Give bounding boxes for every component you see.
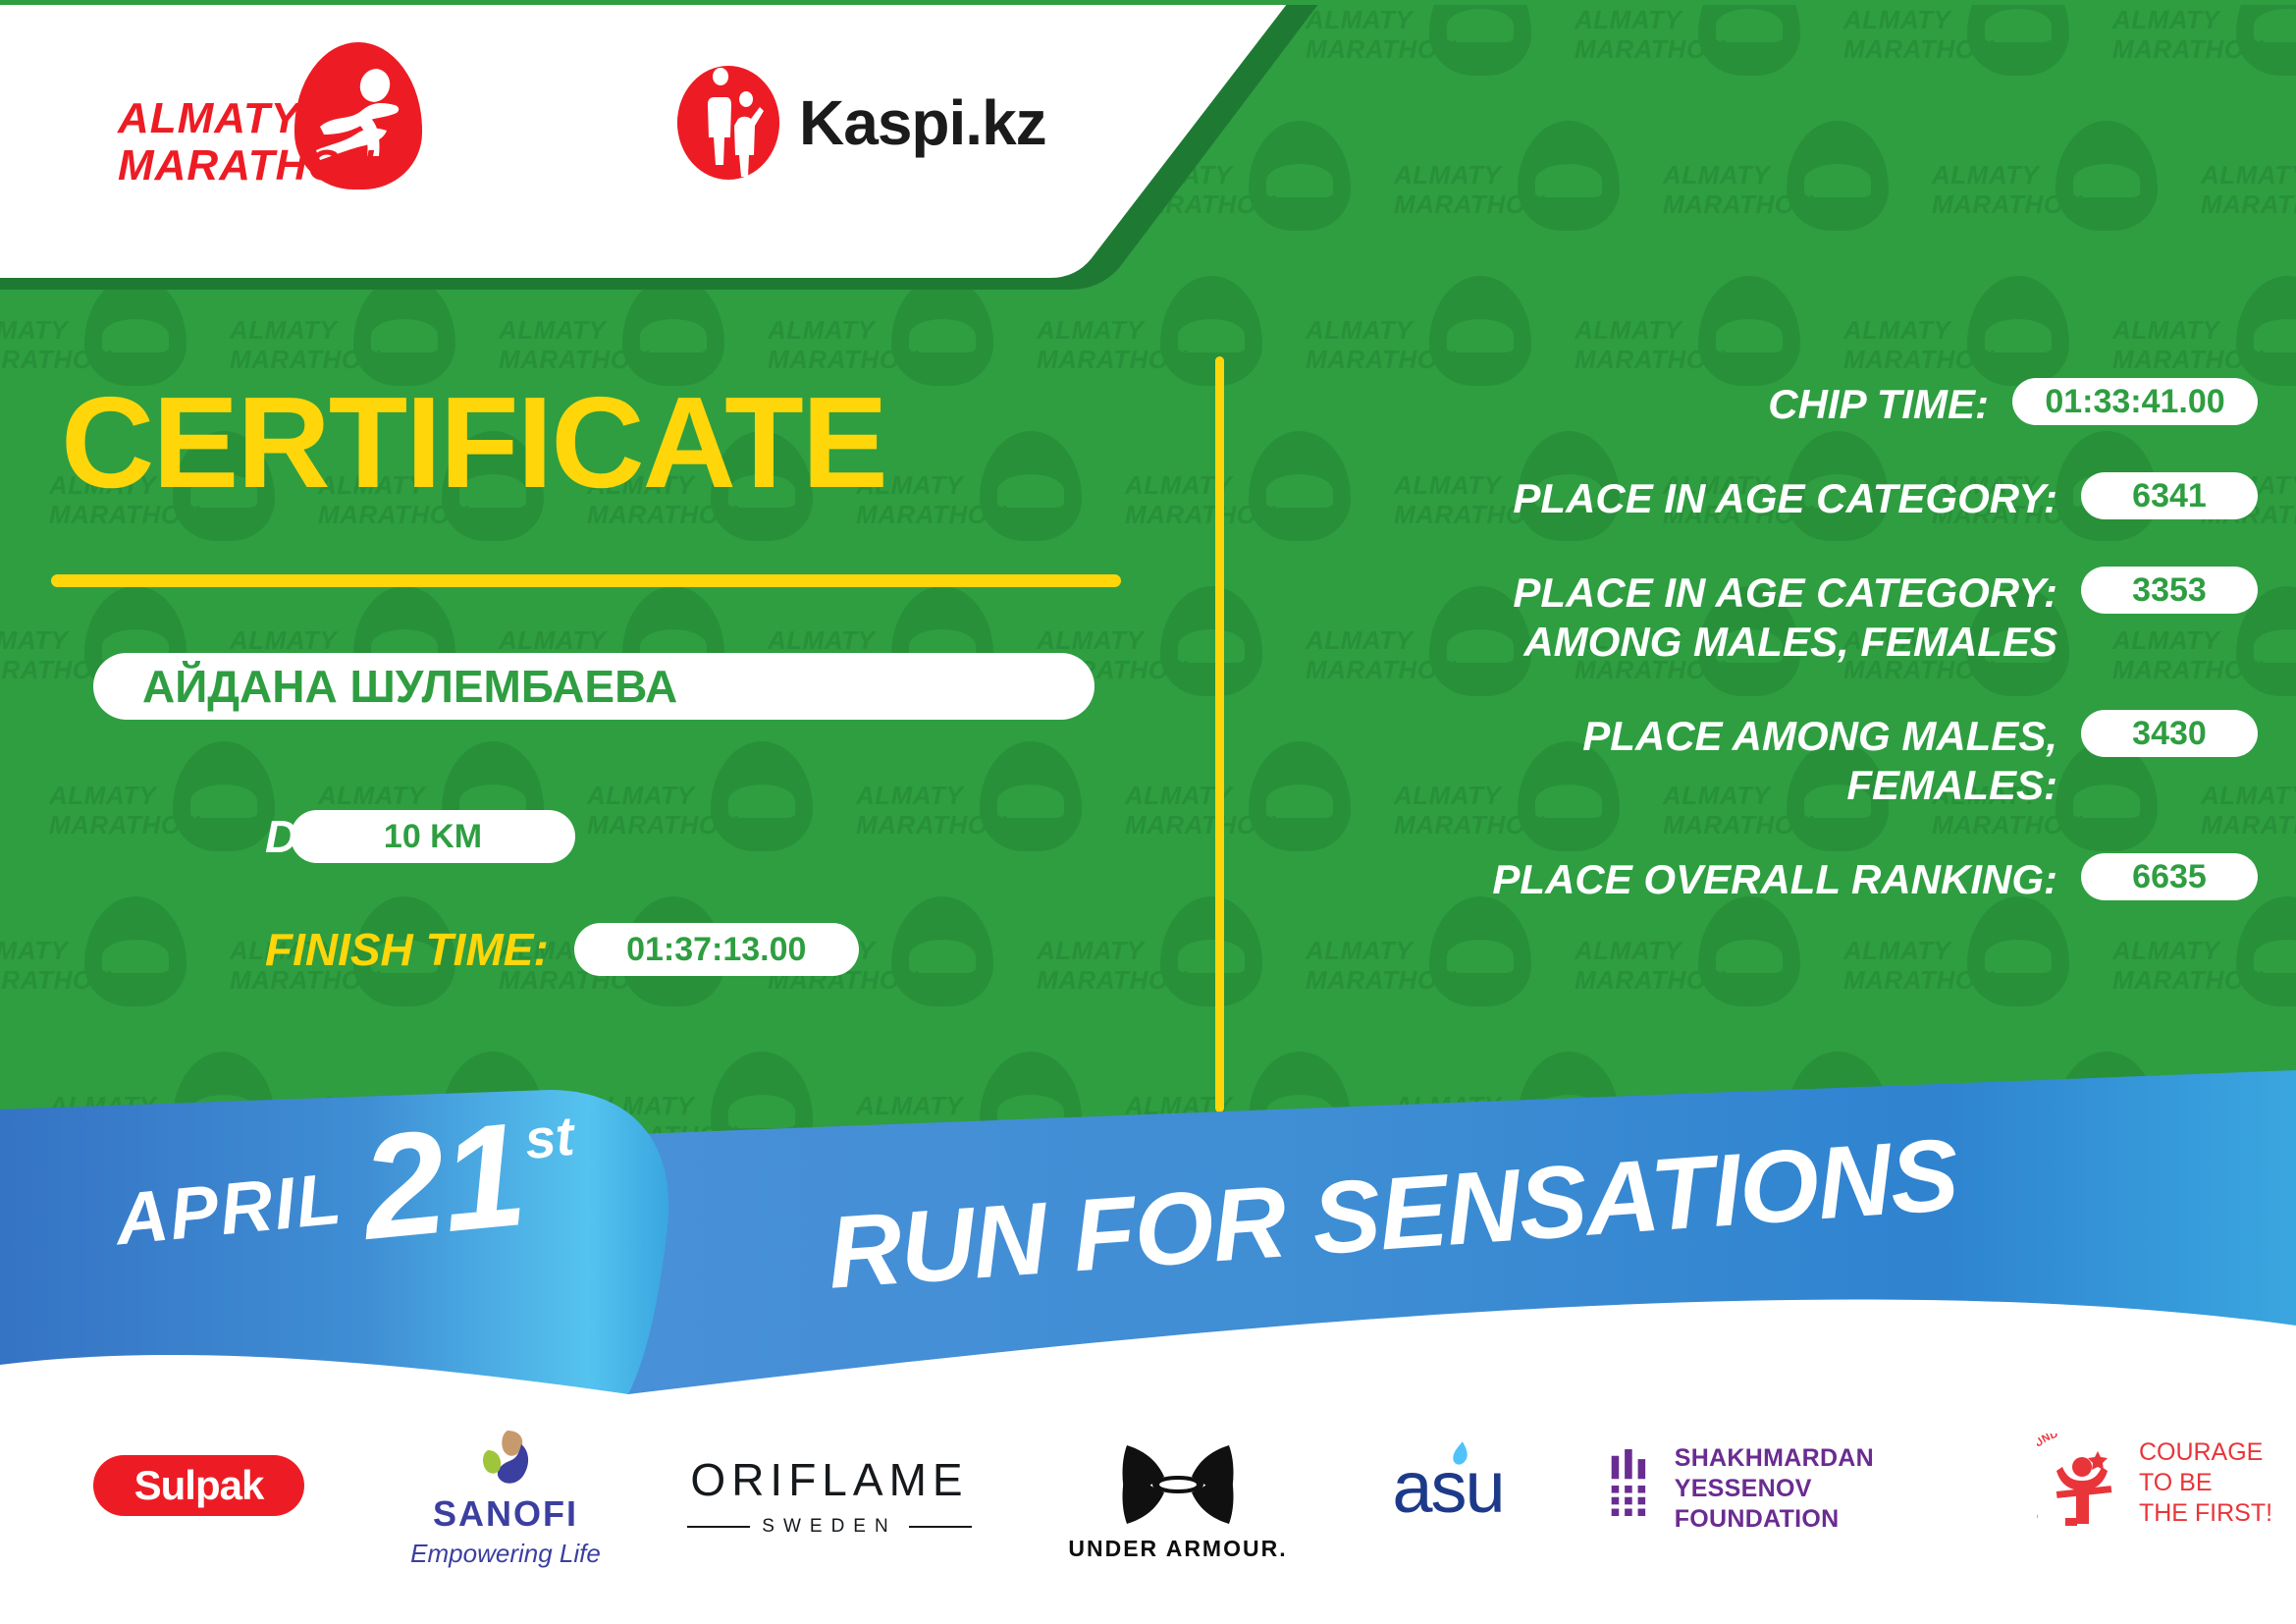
under-armour-wordmark: UNDER ARMOUR. (1068, 1536, 1287, 1562)
sanofi-tagline: Empowering Life (410, 1539, 601, 1569)
watermark-text: ALMATYMARATHON (1125, 781, 1272, 839)
watermark-tile: ALMATYMARATHON (856, 431, 1082, 568)
watermark-tile: ALMATYMARATHON (2201, 121, 2296, 258)
place-age-category-gender-row: PLACE IN AGE CATEGORY: AMONG MALES, FEMA… (1276, 567, 2258, 667)
yessenov-line2: FOUNDATION (1675, 1504, 1963, 1535)
kaspi-people-icon (677, 66, 779, 180)
watermark-tile: ALMATYMARATHON (2112, 5, 2296, 103)
watermark-tile: ALMATYMARATHON (1037, 896, 1262, 1034)
watermark-text: ALMATYMARATHON (0, 625, 108, 684)
watermark-text: ALMATYMARATHON (1306, 315, 1453, 374)
watermark-tile: ALMATYMARATHON (856, 741, 1082, 879)
kaspi-logo: Kaspi.kz (677, 59, 1046, 187)
distance-value: 10 KM (291, 810, 575, 863)
yessenov-bars-icon (1610, 1449, 1653, 1530)
oriflame-rule-right (909, 1526, 972, 1528)
watermark-text: ALMATYMARATHON (1663, 160, 1810, 219)
sponsor-asu-logo: asu (1355, 1445, 1541, 1529)
chip-time-value: 01:33:41.00 (2012, 378, 2258, 425)
watermark-text: ALMATYMARATHON (499, 315, 646, 374)
courage-child-icon: CORPORATE FUND (2037, 1434, 2127, 1532)
watermark-text: ALMATYMARATHON (0, 936, 108, 995)
sponsor-sanofi-logo: SANOFI Empowering Life (393, 1429, 618, 1569)
place-overall-value: 6635 (2081, 853, 2258, 900)
watermark-text: ALMATYMARATHON (1575, 5, 1722, 64)
oriflame-wordmark: ORIFLAME (690, 1453, 968, 1506)
place-age-category-gender-value: 3353 (2081, 567, 2258, 614)
watermark-text: ALMATYMARATHON (1394, 160, 1541, 219)
watermark-tile: ALMATYMARATHON (0, 896, 187, 1034)
place-overall-label: PLACE OVERALL RANKING: (1492, 853, 2057, 904)
sponsor-under-armour-logo: UNDER ARMOUR. (1065, 1441, 1291, 1562)
almaty-marathon-logo: ALMATY MARATHON (118, 42, 432, 199)
oriflame-sub: SWEDEN (687, 1516, 972, 1538)
watermark-text: ALMATYMARATHON (1843, 5, 1991, 64)
watermark-text: ALMATYMARATHON (2201, 160, 2296, 219)
courage-arc-icon: CORPORATE FUND (2037, 1434, 2127, 1532)
watermark-tile: ALMATYMARATHON (587, 741, 813, 879)
sponsor-oriflame-logo: ORIFLAME SWEDEN (687, 1453, 972, 1538)
courage-line2: TO BE (2139, 1468, 2272, 1498)
watermark-tile: ALMATYMARATHON (1663, 121, 1889, 258)
place-overall-row: PLACE OVERALL RANKING: 6635 (1276, 853, 2258, 904)
event-day-suffix: st (522, 1109, 576, 1168)
watermark-text: ALMATYMARATHON (1306, 5, 1453, 64)
watermark-text: ALMATYMARATHON (587, 781, 734, 839)
sulpak-wordmark: Sulpak (134, 1462, 264, 1509)
watermark-text: ALMATYMARATHON (768, 315, 915, 374)
finish-time-value: 01:37:13.00 (574, 923, 859, 976)
courage-line1: COURAGE (2139, 1437, 2272, 1468)
place-among-gender-value: 3430 (2081, 710, 2258, 757)
asu-drop-icon (1449, 1441, 1474, 1471)
kaspi-figures-icon (677, 66, 779, 180)
place-among-gender-row: PLACE AMONG MALES, FEMALES: 3430 (1276, 710, 2258, 810)
watermark-tile: ALMATYMARATHON (1843, 5, 2069, 103)
almaty-line: ALMATY (118, 95, 374, 142)
watermark-tile: ALMATYMARATHON (1575, 5, 1800, 103)
event-month: APRIL (112, 1163, 346, 1257)
watermark-tile: ALMATYMARATHON (49, 741, 275, 879)
courage-line3: THE FIRST! (2139, 1498, 2272, 1529)
courage-wordmark: COURAGE TO BE THE FIRST! (2139, 1437, 2272, 1529)
sanofi-wordmark: SANOFI (433, 1493, 578, 1535)
svg-text:CORPORATE FUND: CORPORATE FUND (2037, 1434, 2059, 1523)
watermark-text: ALMATYMARATHON (2112, 315, 2260, 374)
sponsor-courage-logo: CORPORATE FUND COURAGE TO BE THE FIRST! (2032, 1434, 2277, 1532)
yessenov-wordmark: SHAKHMARDAN YESSENOV FOUNDATION (1675, 1443, 1963, 1535)
finish-time-label: FINISH TIME: (265, 923, 549, 976)
participant-name-field: АЙДАНА ШУЛЕМБАЕВА (93, 653, 1095, 720)
oriflame-sweden: SWEDEN (762, 1516, 896, 1538)
watermark-text: ALMATYMARATHON (230, 315, 377, 374)
watermark-text: ALMATYMARATHON (856, 781, 1003, 839)
almaty-marathon-wordmark: ALMATY MARATHON (118, 95, 374, 189)
asu-text: asu (1392, 1446, 1503, 1528)
distance-row: DISTANCE: 10 KM (265, 810, 575, 863)
watermark-text: ALMATYMARATHON (2112, 5, 2260, 64)
results-panel: CHIP TIME: 01:33:41.00 PLACE IN AGE CATE… (1276, 378, 2258, 947)
watermark-text: ALMATYMARATHON (1037, 936, 1184, 995)
watermark-text: ALMATYMARATHON (1125, 470, 1272, 529)
sanofi-bird-icon (474, 1429, 537, 1489)
event-day: 21 (356, 1100, 529, 1262)
yessenov-line1: SHAKHMARDAN YESSENOV (1675, 1443, 1963, 1504)
watermark-text: ALMATYMARATHON (1843, 315, 1991, 374)
place-age-category-value: 6341 (2081, 472, 2258, 519)
kaspi-wordmark: Kaspi.kz (799, 86, 1046, 159)
oriflame-rule-left (687, 1526, 750, 1528)
under-armour-icon (1121, 1441, 1235, 1528)
watermark-text: ALMATYMARATHON (1575, 315, 1722, 374)
place-among-gender-label: PLACE AMONG MALES, FEMALES: (1582, 710, 2057, 810)
title-underline (51, 574, 1121, 587)
chip-time-row: CHIP TIME: 01:33:41.00 (1276, 378, 2258, 429)
watermark-tile: ALMATYMARATHON (1932, 121, 2158, 258)
chip-time-label: CHIP TIME: (1768, 378, 1989, 429)
watermark-tile: ALMATYMARATHON (1394, 121, 1620, 258)
asu-wordmark: asu (1392, 1445, 1503, 1529)
watermark-tile: ALMATYMARATHON (1306, 5, 1531, 103)
sponsor-yessenov-logo: SHAKHMARDAN YESSENOV FOUNDATION (1610, 1443, 1963, 1535)
marathon-line: MARATHON (118, 142, 374, 189)
column-divider (1215, 356, 1224, 1112)
watermark-text: ALMATYMARATHON (1932, 160, 2079, 219)
place-age-category-row: PLACE IN AGE CATEGORY: 6341 (1276, 472, 2258, 523)
watermark-tile: ALMATYMARATHON (1037, 276, 1262, 413)
place-age-category-gender-label: PLACE IN AGE CATEGORY: AMONG MALES, FEMA… (1513, 567, 2057, 667)
place-age-category-label: PLACE IN AGE CATEGORY: (1513, 472, 2057, 523)
page-title: CERTIFICATE (61, 378, 886, 508)
finish-time-row: FINISH TIME: 01:37:13.00 (265, 923, 859, 976)
watermark-text: ALMATYMARATHON (0, 315, 108, 374)
watermark-text: ALMATYMARATHON (1037, 315, 1184, 374)
participant-name: АЙДАНА ШУЛЕМБАЕВА (142, 660, 677, 713)
courage-arc-text: CORPORATE FUND (2037, 1434, 2059, 1523)
sponsor-sulpak-logo: Sulpak (93, 1455, 304, 1516)
certificate-page: ALMATYMARATHONALMATYMARATHONALMATYMARATH… (0, 0, 2296, 1624)
watermark-text: ALMATYMARATHON (49, 781, 196, 839)
